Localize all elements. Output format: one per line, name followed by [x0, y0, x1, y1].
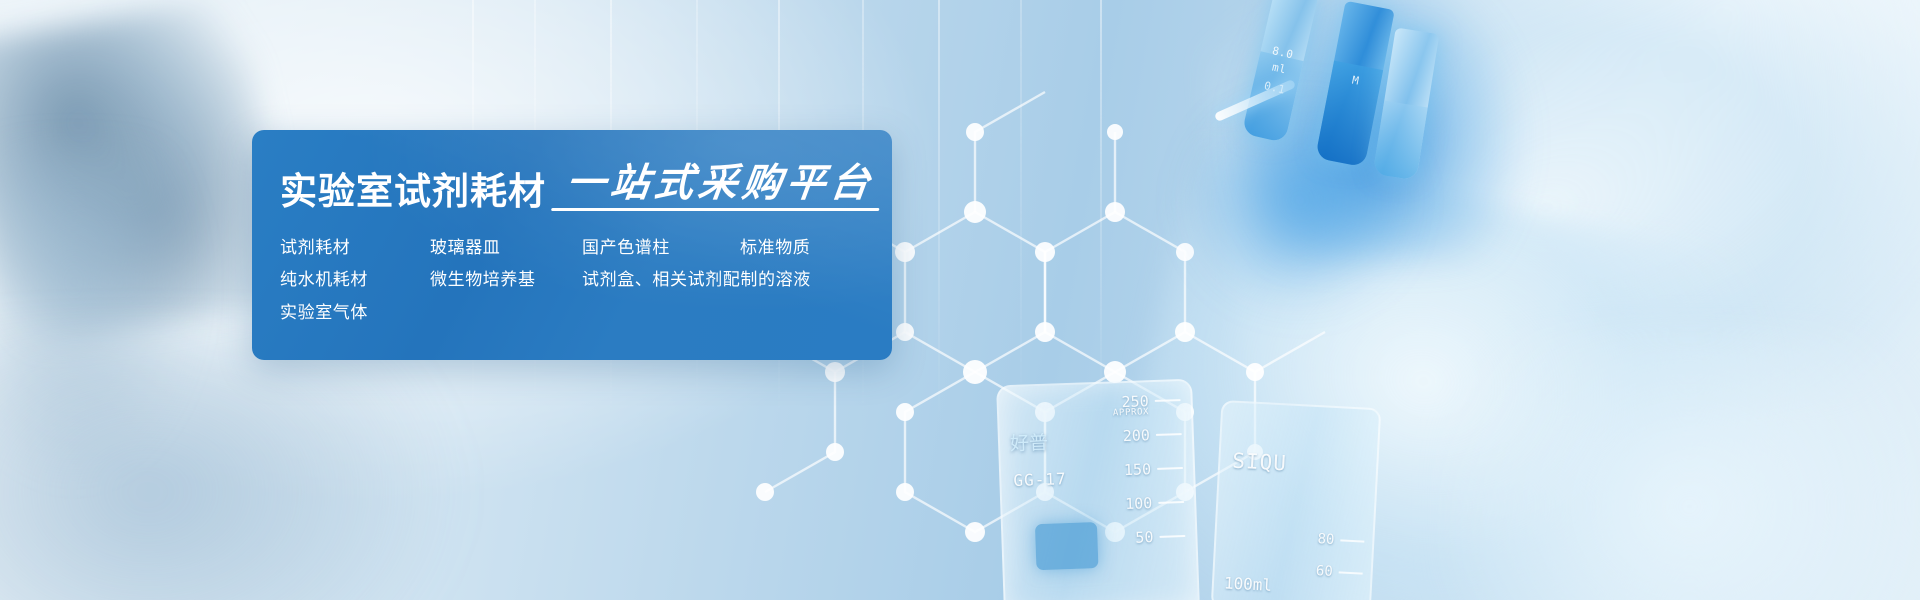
beaker-brand: GG-17 — [1013, 469, 1067, 490]
promo-panel: 实验室试剂耗材 一站式采购平台 试剂耗材 玻璃器皿 国产色谱柱 标准物质 纯水机… — [252, 130, 892, 360]
test-tube-glow-secondary — [1190, 95, 1410, 305]
category-reference-materials[interactable]: 标准物质 — [740, 238, 810, 258]
category-microbial-culture-media[interactable]: 微生物培养基 — [430, 270, 582, 290]
beaker-grad-250: 250 APPROX — [1060, 391, 1181, 429]
category-row-2: 纯水机耗材 微生物培养基 试剂盒、相关试剂配制的溶液 — [280, 270, 892, 290]
hero-banner: 8.0 ml 0.1 M 好普 GG-17 250 APPROX 200 150… — [0, 0, 1920, 600]
category-list: 试剂耗材 玻璃器皿 国产色谱柱 标准物质 纯水机耗材 微生物培养基 试剂盒、相关… — [280, 238, 892, 323]
measuring-cylinder: SIQU 100ml 80 60 — [1211, 400, 1382, 600]
beaker-grad-50: 50 — [1065, 527, 1186, 565]
flask-graduations: 80 60 — [1266, 529, 1365, 598]
beaker-grad-100: 100 — [1064, 493, 1185, 531]
beaker-logo-text: 好普 — [1010, 428, 1049, 456]
beaker-grad-200: 200 — [1062, 425, 1183, 463]
beaker-approx-label: APPROX — [1061, 407, 1149, 420]
category-reagent-consumables[interactable]: 试剂耗材 — [280, 238, 430, 258]
category-reagent-kits-and-solutions[interactable]: 试剂盒、相关试剂配制的溶液 — [582, 270, 811, 290]
headline-script: 一站式采购平台 — [557, 164, 883, 210]
headline-main: 实验室试剂耗材 — [280, 173, 546, 210]
beaker-grad-150: 150 — [1063, 459, 1184, 497]
category-row-1: 试剂耗材 玻璃器皿 国产色谱柱 标准物质 — [280, 238, 892, 258]
category-laboratory-gases[interactable]: 实验室气体 — [280, 303, 368, 323]
flask-brand: SIQU — [1232, 449, 1288, 476]
category-row-3: 实验室气体 — [280, 303, 892, 323]
graduated-beaker: 好普 GG-17 250 APPROX 200 150 100 50 — [996, 379, 1200, 600]
category-glassware[interactable]: 玻璃器皿 — [430, 238, 582, 258]
flask-grad-80: 80 — [1267, 529, 1365, 566]
flask-grad-60: 60 — [1266, 561, 1364, 598]
category-water-purifier-consumables[interactable]: 纯水机耗材 — [280, 270, 430, 290]
headline: 实验室试剂耗材 一站式采购平台 — [280, 164, 892, 210]
beaker-graduations: 250 APPROX 200 150 100 50 — [1060, 391, 1186, 565]
category-domestic-chromatography-column[interactable]: 国产色谱柱 — [582, 238, 740, 258]
